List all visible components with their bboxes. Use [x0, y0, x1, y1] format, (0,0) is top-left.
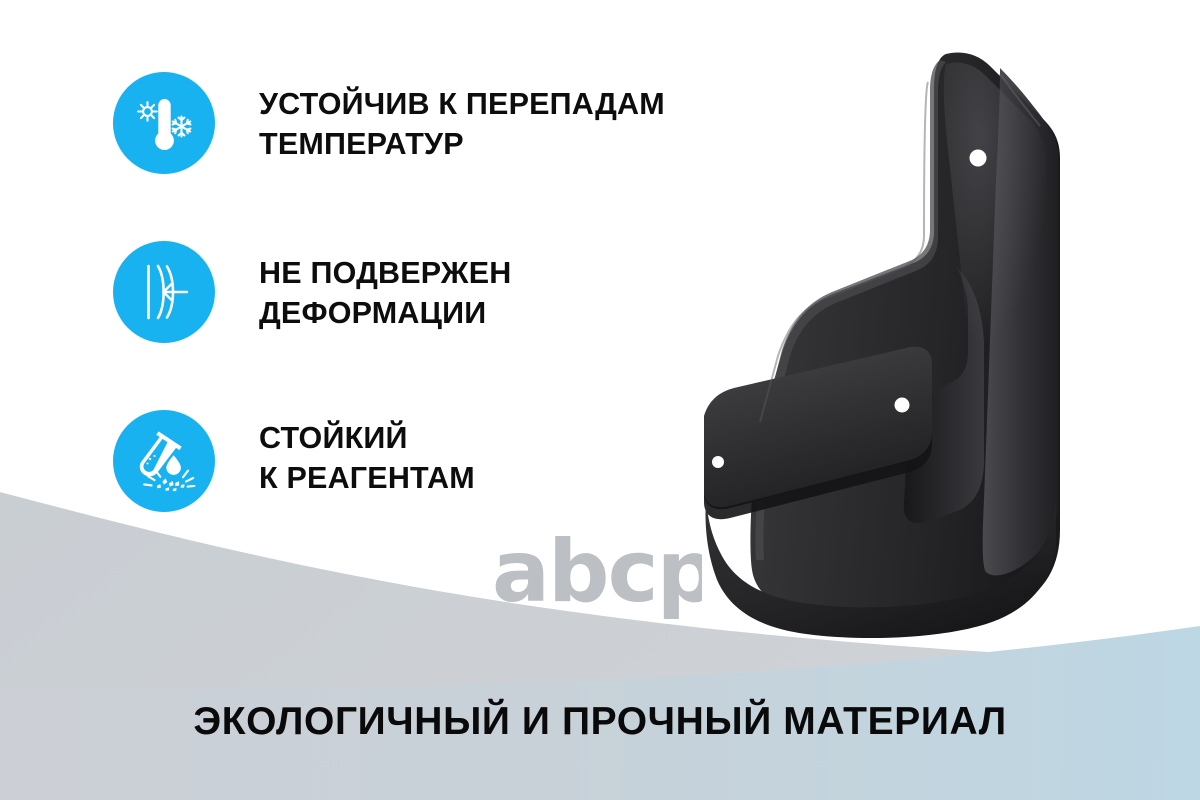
feature-icon-badge-temperature: [113, 72, 215, 174]
thermometer-sun-snowflake-icon: [129, 88, 199, 158]
product-feature-banner: abcp: [0, 0, 1200, 800]
flexible-surface-arrow-icon: [129, 257, 199, 327]
feature-list: УСТОЙЧИВ К ПЕРЕПАДАМ ТЕМПЕРАТУР: [113, 72, 733, 512]
feature-icon-badge-deformation: [113, 241, 215, 343]
flask-droplet-splash-icon: [129, 426, 199, 496]
feature-label-chemical-resistance: СТОЙКИЙ К РЕАГЕНТАМ: [259, 410, 733, 498]
feature-item-temperature-resistance: УСТОЙЧИВ К ПЕРЕПАДАМ ТЕМПЕРАТУР: [113, 72, 733, 174]
mounting-hole-middle: [895, 398, 910, 413]
mounting-hole-top: [970, 150, 987, 167]
feature-label-temperature-resistance: УСТОЙЧИВ К ПЕРЕПАДАМ ТЕМПЕРАТУР: [259, 72, 733, 164]
feature-item-chemical-resistance: СТОЙКИЙ К РЕАГЕНТАМ: [113, 410, 733, 512]
snowflake-glyph: [173, 117, 191, 137]
feature-icon-badge-reagents: [113, 410, 215, 512]
feature-label-deformation-resistance: НЕ ПОДВЕРЖЕН ДЕФОРМАЦИИ: [259, 241, 733, 333]
droplet-glyph: [166, 455, 181, 475]
banner-title: ЭКОЛОГИЧНЫЙ И ПРОЧНЫЙ МАТЕРИАЛ: [0, 700, 1200, 744]
feature-item-deformation-resistance: НЕ ПОДВЕРЖЕН ДЕФОРМАЦИИ: [113, 241, 733, 343]
sun-glyph: [138, 102, 157, 121]
left-arrow-glyph: [164, 284, 188, 301]
splash-glyph: [157, 478, 185, 491]
